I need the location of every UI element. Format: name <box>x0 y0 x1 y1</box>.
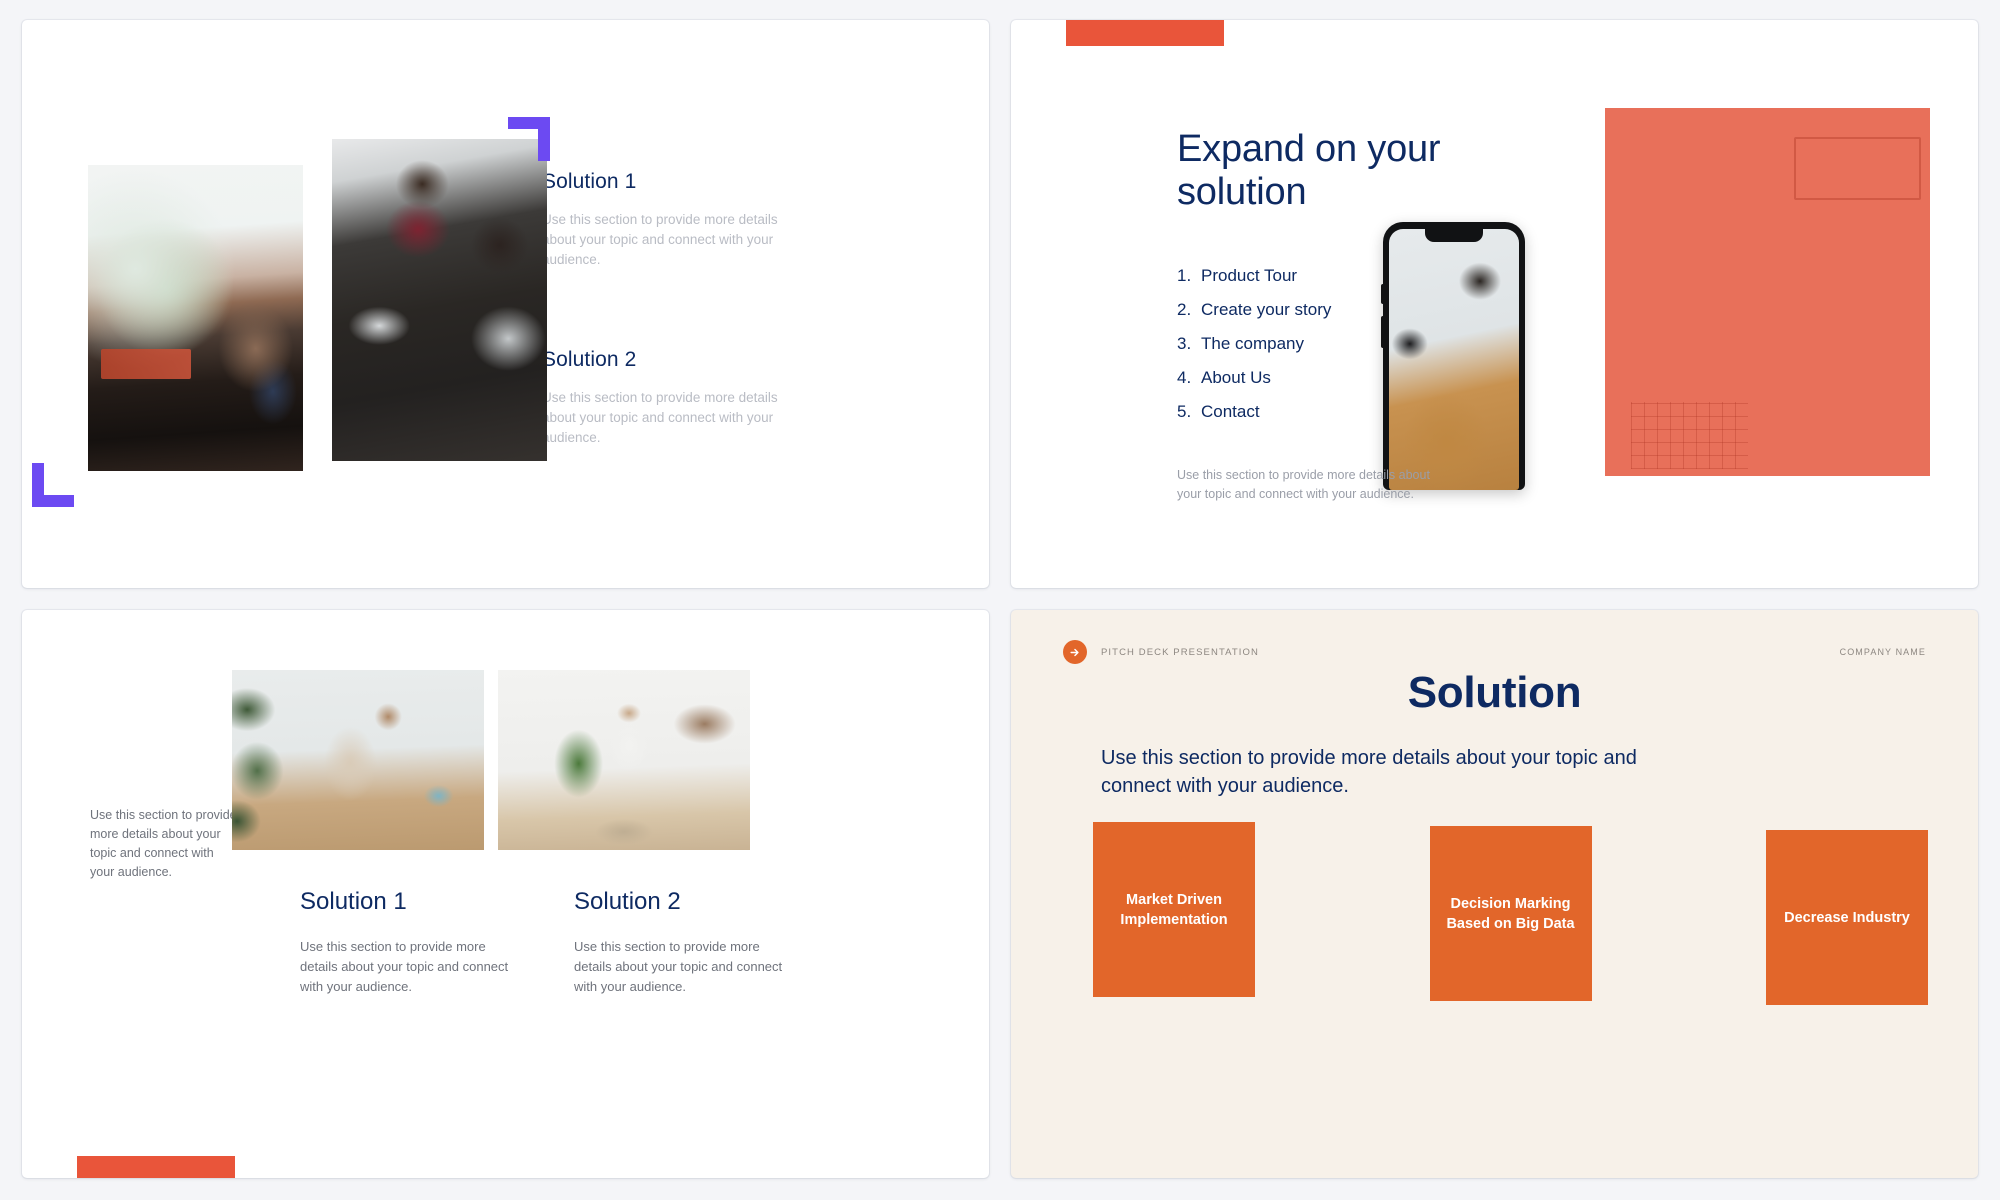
two-men-working-on-laptops-image <box>332 139 547 461</box>
slide-4-header: PITCH DECK PRESENTATION COMPANY NAME <box>1063 640 1926 664</box>
slide-3-column-solution-2: Solution 2 Use this section to provide m… <box>574 888 784 997</box>
slide-1-body-solution-1: Use this section to provide more details… <box>542 210 792 270</box>
agenda-item-contact: Contact <box>1177 403 1507 420</box>
slide-4-kicker: PITCH DECK PRESENTATION <box>1101 647 1259 658</box>
orange-top-bar-decoration <box>1066 20 1224 46</box>
slide-3-heading-solution-2: Solution 2 <box>574 888 784 916</box>
slide-thumbnail-grid: Solution 1 Use this section to provide m… <box>0 0 2000 1200</box>
slide-4-title: Solution <box>1011 668 1978 718</box>
slide-4-card-decrease-industry[interactable]: Decrease Industry <box>1766 830 1928 1005</box>
slide-2-note: Use this section to provide more details… <box>1177 466 1457 504</box>
slide-thumbnail-solution-three-cards[interactable]: PITCH DECK PRESENTATION COMPANY NAME Sol… <box>1011 610 1978 1178</box>
slide-4-card-market-driven-implementation[interactable]: Market Driven Implementation <box>1093 822 1255 997</box>
slide-1-photo-group <box>80 139 500 469</box>
woman-writing-at-cafe-window-image <box>88 165 303 471</box>
slide-3-heading-solution-1: Solution 1 <box>300 888 510 916</box>
slide-1-heading-solution-2: Solution 2 <box>542 348 792 372</box>
slide-1-body-solution-2: Use this section to provide more details… <box>542 388 792 448</box>
slide-thumbnail-expand-on-your-solution[interactable]: Expand on your solution Product Tour Cre… <box>1011 20 1978 588</box>
agenda-item-about-us: About Us <box>1177 369 1507 386</box>
slide-4-card-decision-marking-big-data[interactable]: Decision Marking Based on Big Data <box>1430 826 1592 1001</box>
woman-writing-beside-laptop-image <box>232 670 484 850</box>
slide-3-image-row <box>232 670 750 850</box>
slide-4-lead-paragraph: Use this section to provide more details… <box>1101 744 1711 801</box>
slide-3-side-text: Use this section to provide more details… <box>90 806 240 882</box>
coral-tinted-room-illustration-image <box>1605 108 1930 476</box>
slide-4-card-label-1: Market Driven Implementation <box>1109 890 1239 930</box>
slide-3-column-row: Solution 1 Use this section to provide m… <box>300 888 784 997</box>
woman-gesturing-home-office-image <box>498 670 750 850</box>
slide-4-company-name: COMPANY NAME <box>1840 647 1926 657</box>
orange-bottom-bar-decoration <box>77 1156 235 1178</box>
agenda-item-product-tour: Product Tour <box>1177 267 1507 284</box>
slide-4-card-label-3: Decrease Industry <box>1784 908 1910 928</box>
slide-1-block-solution-1: Solution 1 Use this section to provide m… <box>542 170 792 270</box>
phone-notch <box>1425 229 1483 242</box>
slide-4-card-label-2: Decision Marking Based on Big Data <box>1446 894 1576 934</box>
slide-2-agenda-list: Product Tour Create your story The compa… <box>1177 267 1507 420</box>
arrow-right-circle-icon <box>1063 640 1087 664</box>
agenda-item-the-company: The company <box>1177 335 1507 352</box>
slide-1-block-solution-2: Solution 2 Use this section to provide m… <box>542 348 792 448</box>
slide-1-text-column: Solution 1 Use this section to provide m… <box>542 160 792 448</box>
slide-3-body-solution-1: Use this section to provide more details… <box>300 937 510 997</box>
agenda-item-create-your-story: Create your story <box>1177 301 1507 318</box>
slide-4-card-row: Market Driven Implementation Decision Ma… <box>1093 822 1928 1005</box>
purple-bracket-top-right-decoration <box>508 117 550 161</box>
slide-thumbnail-solutions-side-text[interactable]: Use this section to provide more details… <box>22 610 989 1178</box>
slide-thumbnail-solutions-two-photos[interactable]: Solution 1 Use this section to provide m… <box>22 20 989 588</box>
slide-3-body-solution-2: Use this section to provide more details… <box>574 937 784 997</box>
slide-1-content: Solution 1 Use this section to provide m… <box>22 20 989 588</box>
slide-2-title: Expand on your solution <box>1177 128 1507 215</box>
purple-bracket-bottom-left-decoration <box>32 463 74 507</box>
slide-2-text-column: Expand on your solution Product Tour Cre… <box>1177 128 1507 504</box>
slide-3-column-solution-1: Solution 1 Use this section to provide m… <box>300 888 510 997</box>
slide-1-heading-solution-1: Solution 1 <box>542 170 792 194</box>
